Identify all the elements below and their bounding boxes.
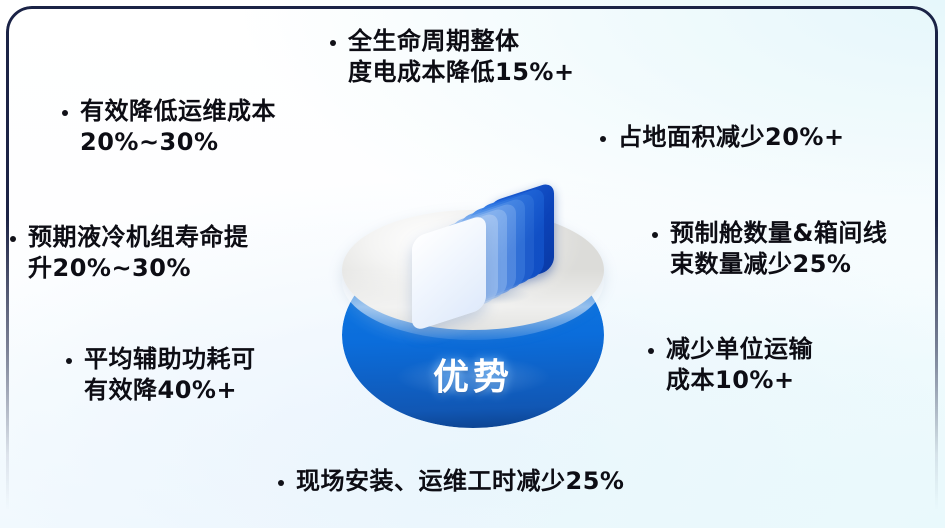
bullet-transport-cost: 减少单位运输 成本10%+ [648, 334, 813, 396]
plate-1-front [412, 214, 486, 332]
bullet-dot-icon [648, 348, 654, 354]
bullet-dot-icon [652, 232, 658, 238]
bullet-text: 有效降低运维成本 20%~30% [80, 96, 276, 158]
bullet-om-cost: 有效降低运维成本 20%~30% [62, 96, 276, 158]
bullet-auxiliary-power: 平均辅助功耗可 有效降40%+ [66, 344, 256, 406]
bullet-text: 现场安装、运维工时减少25% [296, 466, 624, 497]
advantages-slide: 优势 全生命周期整体 度电成本降低15%+ 有效降低运维成本 20%~30% 占… [0, 0, 945, 528]
bullet-dot-icon [600, 136, 606, 142]
bullet-dot-icon [66, 358, 72, 364]
bullet-footprint: 占地面积减少20%+ [600, 122, 845, 153]
bullet-dot-icon [278, 480, 284, 486]
center-dome-graphic: 优势 [336, 186, 610, 432]
dome-center-label: 优势 [336, 348, 610, 400]
bullet-text: 全生命周期整体 度电成本降低15%+ [348, 26, 575, 88]
bullet-prefab-cabin-count: 预制舱数量&箱间线 束数量减少25% [652, 218, 887, 280]
bullet-text: 占地面积减少20%+ [618, 122, 845, 153]
bullet-text: 预制舱数量&箱间线 束数量减少25% [670, 218, 887, 280]
stacked-plates-icon [402, 186, 562, 316]
bullet-dot-icon [10, 236, 16, 242]
bullet-install-om-hours: 现场安装、运维工时减少25% [278, 466, 624, 497]
bullet-dot-icon [330, 40, 336, 46]
bullet-text: 预期液冷机组寿命提 升20%~30% [28, 222, 249, 284]
bullet-dot-icon [62, 110, 68, 116]
bullet-text: 减少单位运输 成本10%+ [666, 334, 813, 396]
bullet-text: 平均辅助功耗可 有效降40%+ [84, 344, 256, 406]
bullet-lifecycle-cost: 全生命周期整体 度电成本降低15%+ [330, 26, 575, 88]
bullet-liquid-cooling-lifetime: 预期液冷机组寿命提 升20%~30% [10, 222, 249, 284]
